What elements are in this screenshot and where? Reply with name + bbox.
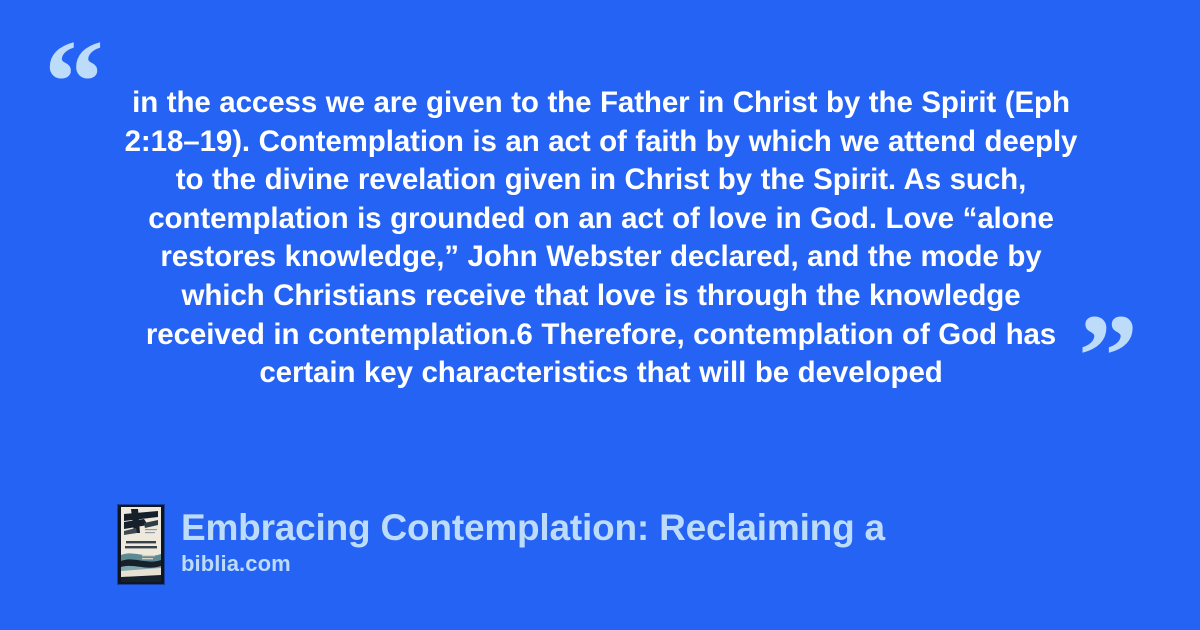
book-cover-thumbnail <box>118 505 164 584</box>
open-quote-icon: “ <box>44 22 104 142</box>
quote-block: “ in the access we are given to the Fath… <box>0 0 1200 440</box>
book-title[interactable]: Embracing Contemplation: Reclaiming a <box>181 506 885 550</box>
quote-text: in the access we are given to the Father… <box>118 84 1084 393</box>
quote-card: “ in the access we are given to the Fath… <box>0 0 1200 630</box>
source-domain[interactable]: biblia.com <box>181 550 885 578</box>
footer-text: Embracing Contemplation: Reclaiming a bi… <box>181 505 885 578</box>
footer: Embracing Contemplation: Reclaiming a bi… <box>118 505 885 584</box>
close-quote-icon: ” <box>1078 296 1138 416</box>
